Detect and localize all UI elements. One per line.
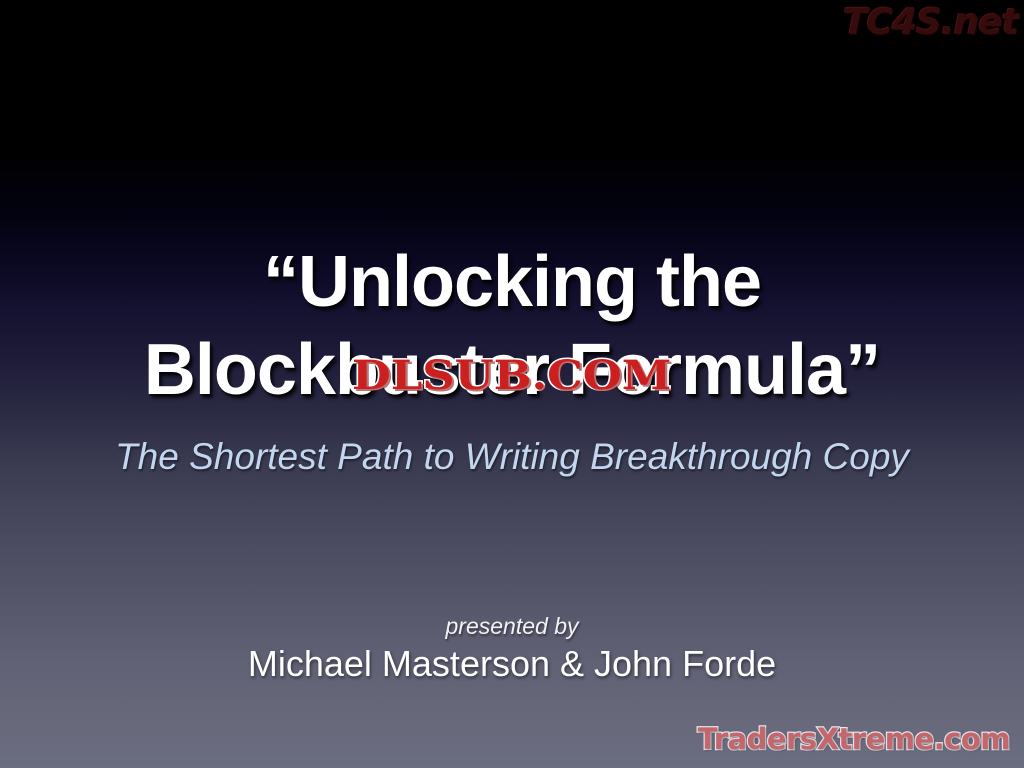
slide-subtitle: The Shortest Path to Writing Breakthroug…	[0, 435, 1024, 479]
slide-title-line-1: “Unlocking the	[0, 238, 1024, 326]
slide-title: “Unlocking the Blockbuster Formula”	[0, 238, 1024, 414]
watermark-bottom-right: TradersXtreme.com	[698, 722, 1010, 756]
presented-by-label: presented by	[0, 612, 1024, 640]
presentation-slide: TC4S.net “Unlocking the Blockbuster Form…	[0, 0, 1024, 768]
presenter-names: Michael Masterson & John Forde	[0, 642, 1024, 686]
watermark-top-right: TC4S.net	[843, 2, 1018, 43]
slide-title-line-2: Blockbuster Formula”	[0, 326, 1024, 414]
